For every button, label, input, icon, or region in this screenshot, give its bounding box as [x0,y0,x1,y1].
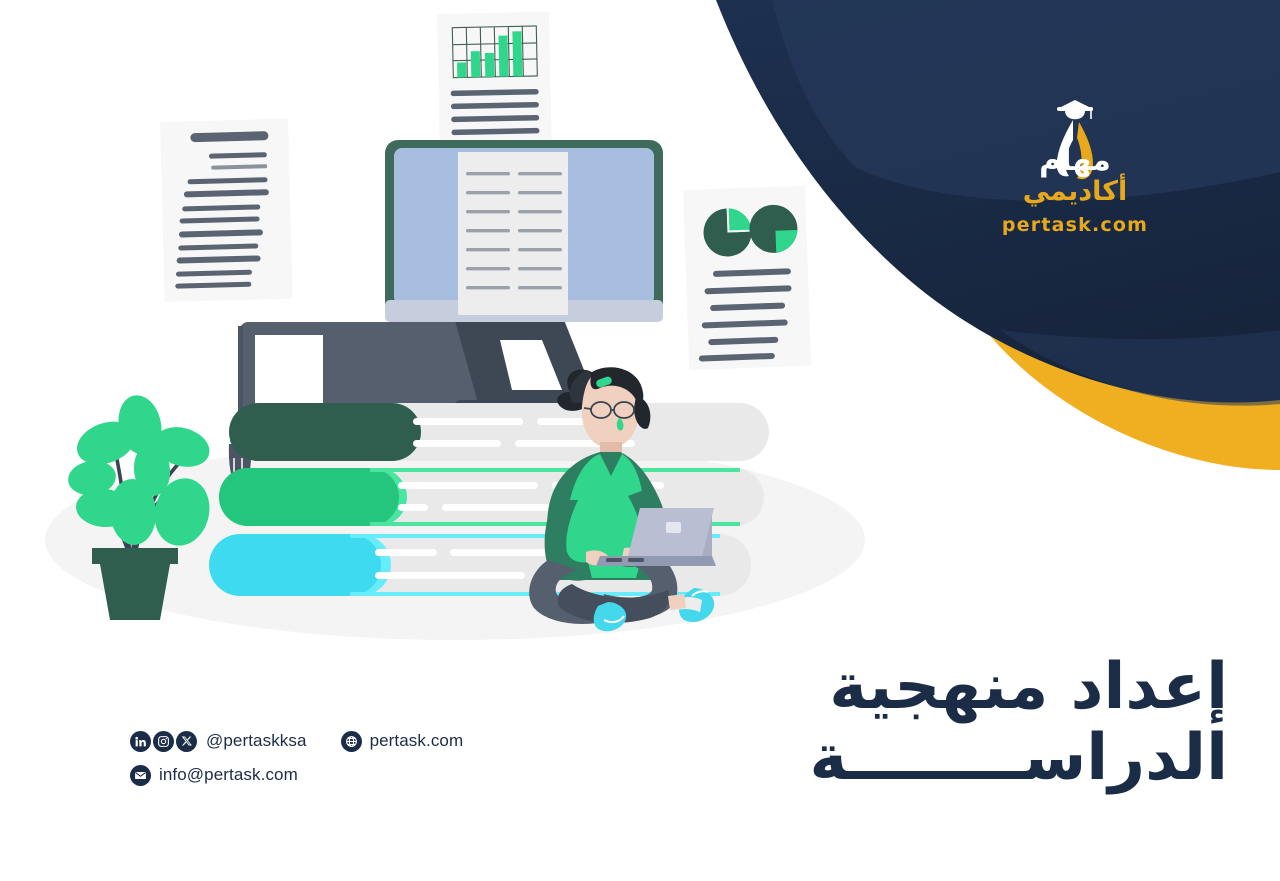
graduation-cap-icon [1057,100,1093,119]
pie-document-right [683,186,811,370]
poster-canvas: مهام أكاديمي pertask.com إعداد منهجية ال… [0,0,1280,881]
linkedin-icon[interactable] [130,731,151,752]
desk-shelf-inner [255,335,323,410]
website-text[interactable]: pertask.com [370,731,464,751]
contact-row-email: info@pertask.com [130,760,463,790]
study-illustration [0,0,900,700]
contact-strip: @pertaskksa pertask.com info@pertask.com [130,726,463,794]
book-top [229,403,769,461]
page-title: إعداد منهجية الدراســــــــة [668,652,1228,795]
navy-wave-light-sweep [1000,330,1280,406]
chart-document-top [437,12,552,149]
ankle-skin [668,594,686,610]
yellow-wave-shape [985,250,1280,470]
globe-icon[interactable] [341,731,362,752]
headline-line-2: الدراســــــــة [668,723,1228,795]
logo-mark-graduate-icon: مهام أكاديمي [995,92,1155,212]
x-twitter-icon[interactable] [176,731,197,752]
logo-domain-text: pertask.com [995,214,1155,236]
email-text[interactable]: info@pertask.com [159,765,298,785]
monitor-document [458,152,568,315]
text-document-left [160,119,293,302]
envelope-icon[interactable] [130,765,151,786]
contact-row-social: @pertaskksa pertask.com [130,726,463,756]
logo-arabic-bottom: أكاديمي [1023,173,1128,207]
headline-line-1: إعداد منهجية [668,652,1228,724]
social-icon-cluster [130,731,197,752]
instagram-icon[interactable] [153,731,174,752]
social-handle[interactable]: @pertaskksa [206,731,307,751]
brand-logo: مهام أكاديمي pertask.com [995,92,1155,236]
logo-arabic-top: مهام [1039,143,1111,178]
